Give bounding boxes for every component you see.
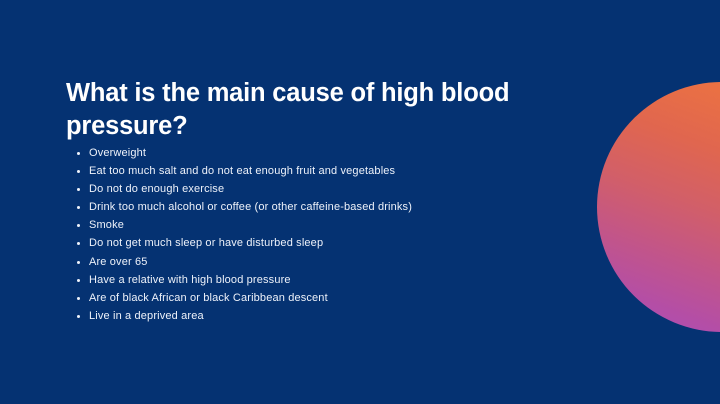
list-item: Are of black African or black Caribbean … [74,289,594,307]
list-item: Eat too much salt and do not eat enough … [74,162,594,180]
bullet-dot-icon [77,242,80,245]
list-item-label: Do not get much sleep or have disturbed … [89,237,323,249]
list-item: Overweight [74,144,594,162]
bullet-dot-icon [77,279,80,282]
list-item-label: Are over 65 [89,256,148,268]
list-item: Drink too much alcohol or coffee (or oth… [74,198,594,216]
list-item-label: Overweight [89,147,146,159]
list-item-label: Are of black African or black Caribbean … [89,292,328,304]
list-item-label: Have a relative with high blood pressure [89,274,291,286]
presentation-slide: What is the main cause of high blood pre… [0,0,720,404]
list-item: Have a relative with high blood pressure [74,271,594,289]
list-item: Do not do enough exercise [74,180,594,198]
bullet-dot-icon [77,206,80,209]
bullet-dot-icon [77,261,80,264]
bullet-dot-icon [77,224,80,227]
bullet-dot-icon [77,152,80,155]
gradient-circle-decoration [597,82,720,332]
bullet-dot-icon [77,170,80,173]
bullet-dot-icon [77,297,80,300]
slide-title: What is the main cause of high blood pre… [66,77,586,143]
list-item-label: Smoke [89,219,124,231]
list-item-label: Do not do enough exercise [89,183,224,195]
bullet-dot-icon [77,315,80,318]
list-item-label: Live in a deprived area [89,310,204,322]
list-item-label: Eat too much salt and do not eat enough … [89,165,395,177]
bullet-dot-icon [77,188,80,191]
list-item-label: Drink too much alcohol or coffee (or oth… [89,201,412,213]
list-item: Smoke [74,216,594,234]
list-item: Do not get much sleep or have disturbed … [74,234,594,252]
list-item: Live in a deprived area [74,307,594,325]
bullet-list: Overweight Eat too much salt and do not … [74,144,594,325]
list-item: Are over 65 [74,253,594,271]
